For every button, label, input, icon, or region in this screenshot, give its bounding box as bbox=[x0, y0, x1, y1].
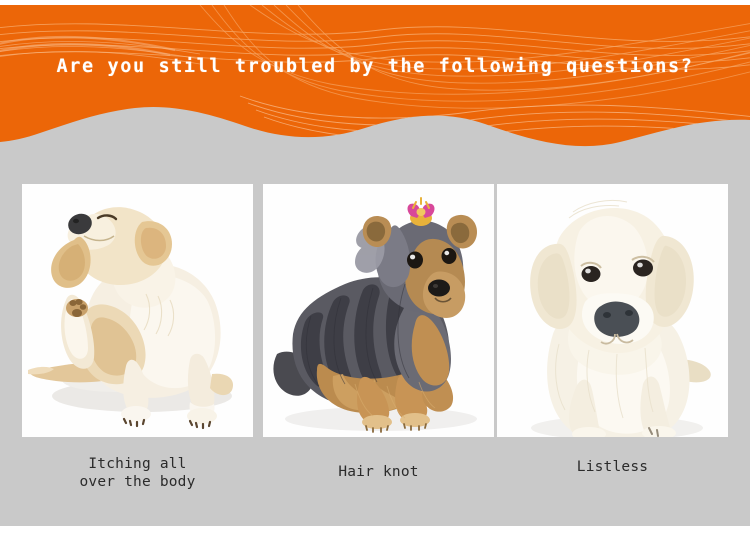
cream-retriever-puppy-front-photo bbox=[497, 184, 728, 437]
caption-hair-knot: Hair knot bbox=[263, 463, 494, 481]
caption-line-1: Listless bbox=[577, 459, 648, 475]
caption-itching: Itching allover the body bbox=[22, 455, 253, 491]
photo-panel-itching[interactable] bbox=[22, 184, 253, 437]
photo-panel-hair-knot[interactable] bbox=[263, 184, 494, 437]
card-gallery: Itching allover the body bbox=[0, 0, 750, 545]
top-white-strip bbox=[0, 0, 750, 5]
caption-line-1: Hair knot bbox=[338, 464, 418, 480]
golden-retriever-puppy-scratching-photo bbox=[22, 184, 253, 437]
promo-banner: Are you still troubled by the following … bbox=[0, 0, 750, 545]
page-title: Are you still troubled by the following … bbox=[0, 56, 750, 77]
caption-line-2: over the body bbox=[79, 474, 195, 490]
caption-listless: Listless bbox=[497, 458, 728, 476]
yorkshire-terrier-with-bow-photo bbox=[263, 184, 494, 437]
photo-panel-listless[interactable] bbox=[497, 184, 728, 437]
caption-line-1: Itching all bbox=[88, 456, 186, 472]
